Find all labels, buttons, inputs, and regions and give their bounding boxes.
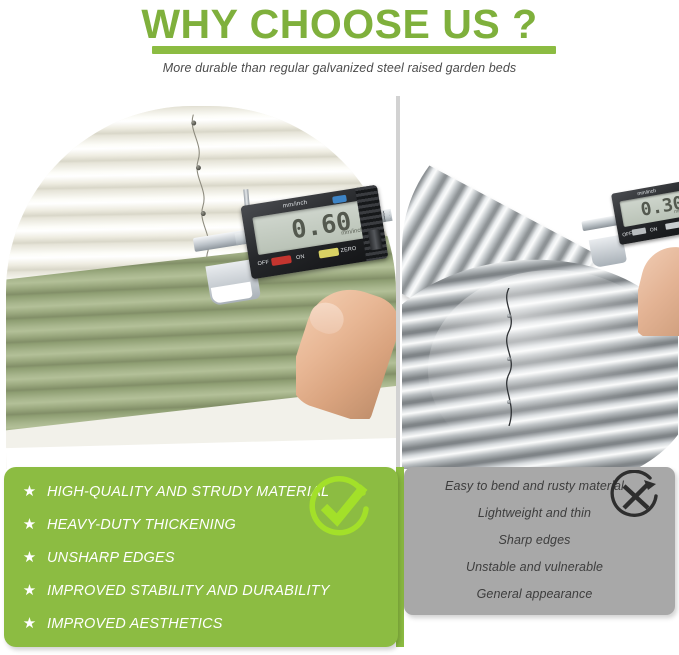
list-item: ★ UNSHARP EDGES <box>4 541 398 574</box>
star-icon: ★ <box>21 616 38 631</box>
ours-feature-label: HIGH-QUALITY AND STRUDY MATERIAL <box>47 484 329 500</box>
star-icon: ★ <box>21 583 38 598</box>
caliper-zero-button[interactable] <box>318 248 339 259</box>
caliper-reading-value: 0.60 <box>289 206 353 245</box>
page-title: WHY CHOOSE US ? <box>0 1 679 47</box>
star-icon: ★ <box>21 484 38 499</box>
caliper-off-button[interactable] <box>632 227 647 235</box>
caliper-zero-label: ZERO <box>340 246 357 254</box>
ours-feature-label: IMPROVED STABILITY AND DURABILITY <box>47 583 330 599</box>
caliper-off-label: OFF <box>622 231 633 239</box>
panel-bolt <box>507 400 511 404</box>
panel-bolt <box>507 357 511 361</box>
list-item: ★ IMPROVED STABILITY AND DURABILITY <box>4 574 398 607</box>
caliper-on-label: ON <box>649 226 657 233</box>
caliper-brand-label: mm/inch <box>283 200 308 210</box>
ours-photo-backdrop <box>6 438 396 469</box>
x-circle-icon <box>608 470 662 524</box>
caliper-reading-value: 0.30 <box>639 193 679 222</box>
caliper-off-label: OFF <box>257 260 269 268</box>
star-icon: ★ <box>21 517 38 532</box>
ours-feature-label: IMPROVED AESTHETICS <box>47 616 223 632</box>
page-subtitle: More durable than regular galvanized ste… <box>0 61 679 75</box>
caliper-off-button[interactable] <box>271 255 292 266</box>
others-panel-seam <box>500 288 518 426</box>
list-item: Sharp edges <box>404 527 675 554</box>
list-item: Unstable and vulnerable <box>404 554 675 581</box>
comparison-photo-area: mm/inch 0.60 mm/inch OFF ON ZERO <box>0 96 679 469</box>
others-product-photo: mm/inch 0.30 mm/inch OFF ON ZERO <box>400 96 679 469</box>
title-underline <box>152 46 556 54</box>
check-circle-icon <box>307 473 373 539</box>
panel-bolt <box>507 314 511 318</box>
ours-feature-label: HEAVY-DUTY THICKENING <box>47 517 236 533</box>
ours-product-photo: mm/inch 0.60 mm/inch OFF ON ZERO <box>0 96 396 469</box>
ours-feature-label: UNSHARP EDGES <box>47 550 175 566</box>
caliper-zero-button[interactable] <box>665 221 679 230</box>
hand-holding-caliper <box>296 289 396 419</box>
header: WHY CHOOSE US ? More durable than regula… <box>0 0 679 96</box>
hand-holding-caliper <box>638 246 679 336</box>
caliper-on-label: ON <box>296 254 305 261</box>
list-item: ★ IMPROVED AESTHETICS <box>4 607 398 640</box>
list-item: General appearance <box>404 581 675 608</box>
others-photo-arch <box>402 110 678 469</box>
thumb-shape <box>296 289 396 419</box>
thumb-shape <box>638 246 679 336</box>
star-icon: ★ <box>21 550 38 565</box>
